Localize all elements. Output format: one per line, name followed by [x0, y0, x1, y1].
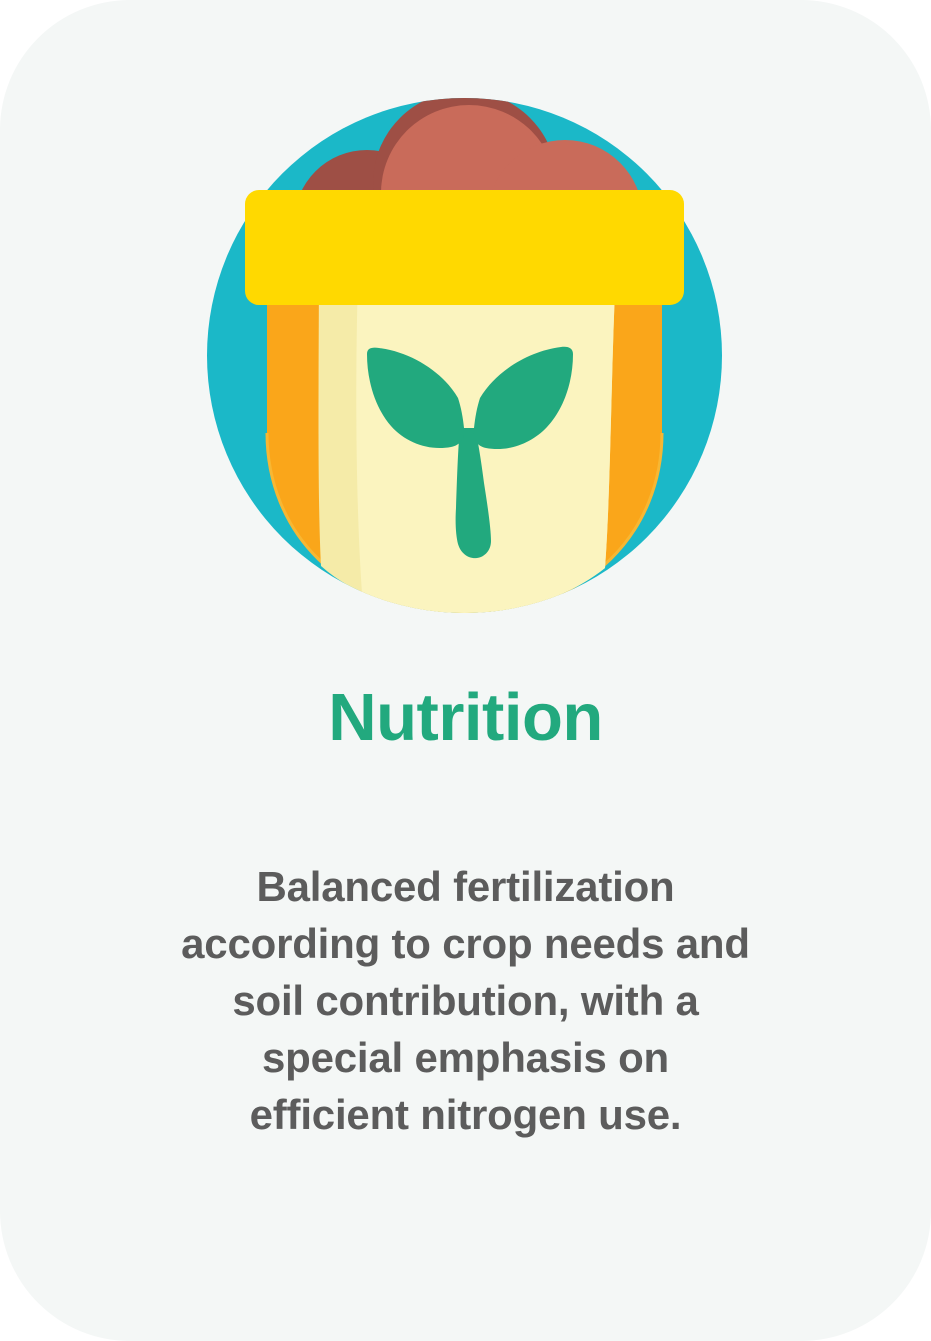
description-text: Balanced fertilization according to crop…	[80, 858, 851, 1143]
description-line: efficient nitrogen use.	[80, 1086, 851, 1143]
page-title: Nutrition	[0, 684, 931, 751]
nutrition-feature-card: Nutrition Balanced fertilization accordi…	[0, 0, 931, 1341]
description-line: special emphasis on	[80, 1029, 851, 1086]
description-line: Balanced fertilization	[80, 858, 851, 915]
fertilizer-bag-icon	[207, 98, 722, 613]
bag-rim-band	[245, 190, 684, 305]
description-line: according to crop needs and	[80, 915, 851, 972]
description-line: soil contribution, with a	[80, 972, 851, 1029]
